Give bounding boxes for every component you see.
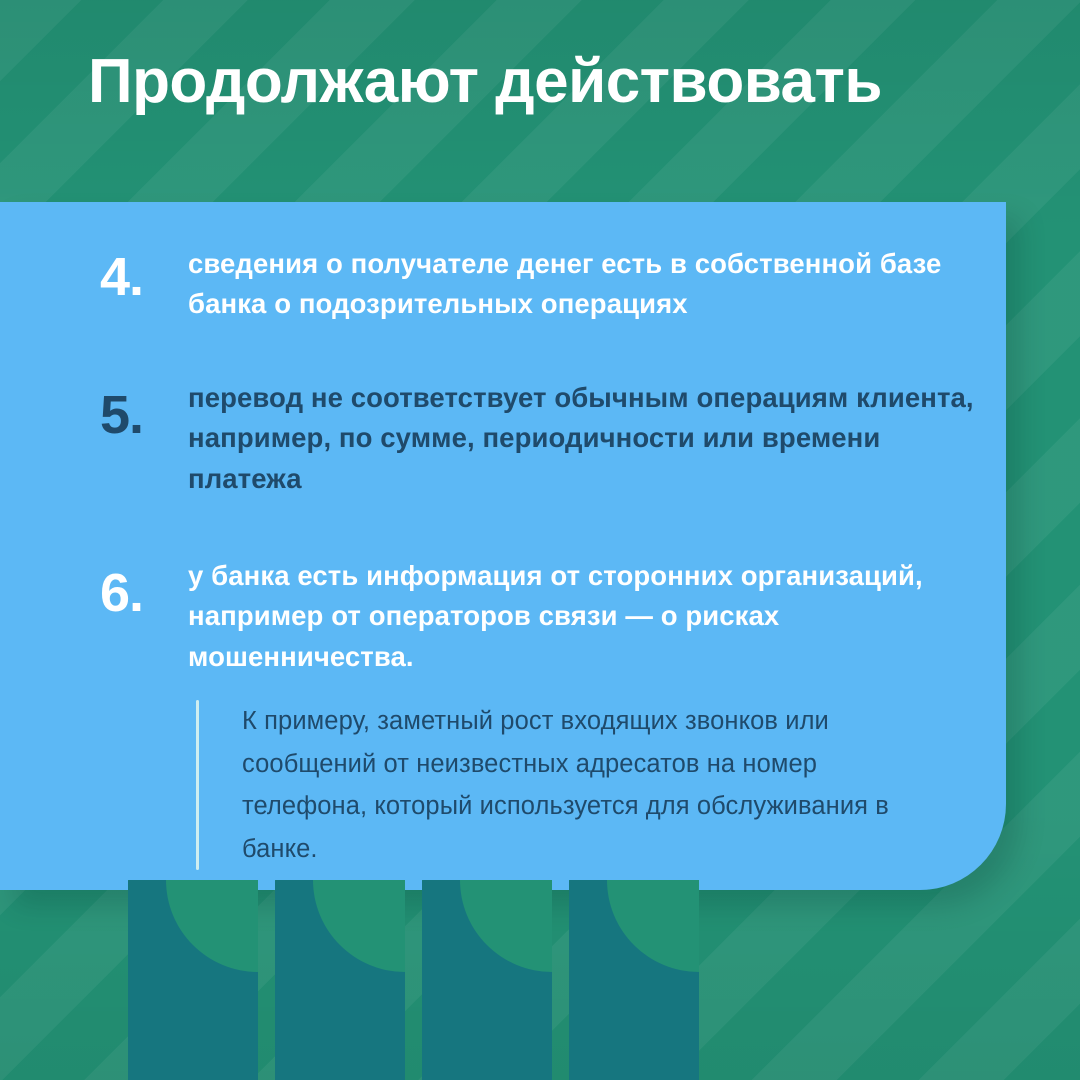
note-block: К примеру, заметный рост входящих звонко… [196,700,896,870]
list-item-text: перевод не соответствует обычным операци… [188,378,980,499]
list-item-text: у банка есть информация от сторонних орг… [188,556,980,677]
poster-canvas: Продолжают действовать 4. сведения о пол… [0,0,1080,1080]
list-item-number: 4. [100,244,188,304]
list-item-number: 5. [100,378,188,442]
bottom-decoration [0,880,1080,1080]
list-item: 6. у банка есть информация от сторонних … [100,556,980,677]
list-item-number: 6. [100,556,188,620]
note-text: К примеру, заметный рост входящих звонко… [242,700,896,870]
deco-column [569,880,699,1080]
list-item: 4. сведения о получателе денег есть в со… [100,244,980,325]
deco-column [128,880,258,1080]
deco-column [422,880,552,1080]
note-accent-bar [196,700,199,870]
list-item: 5. перевод не соответствует обычным опер… [100,378,980,499]
list-item-text: сведения о получателе денег есть в собст… [188,244,980,325]
deco-column [275,880,405,1080]
